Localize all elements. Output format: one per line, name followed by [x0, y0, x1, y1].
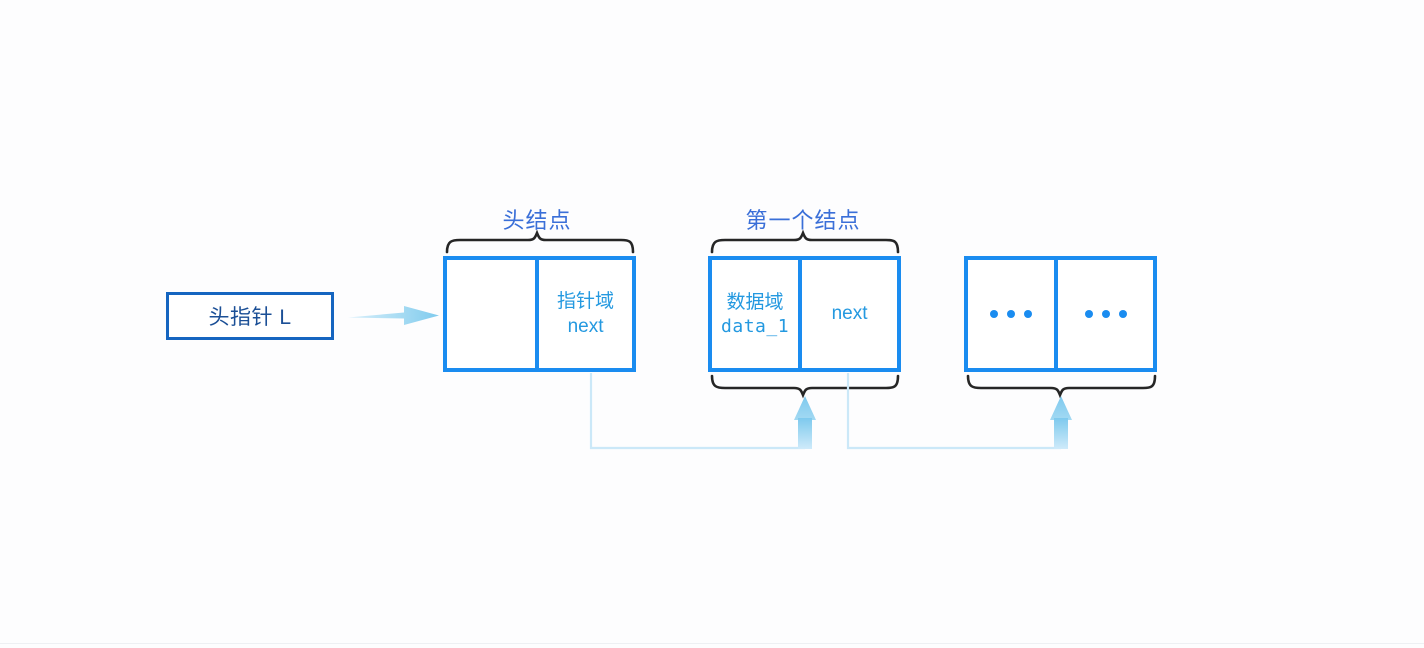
node-head: 指针域 next: [443, 256, 636, 372]
node-head-next-label-line1: 指针域: [557, 289, 614, 314]
head-pointer-box: 头指针 L: [166, 292, 334, 340]
ellipsis-icon-right: [1085, 310, 1127, 318]
ellipsis-icon-left: [990, 310, 1032, 318]
node-head-next-label-line2: next: [568, 314, 604, 339]
node-first-next-cell: next: [802, 260, 897, 368]
page-baseline-divider: [0, 643, 1424, 644]
caption-first-node: 第一个结点: [745, 203, 860, 235]
link-head-to-first: [591, 373, 816, 449]
node-head-data-cell: [447, 260, 539, 368]
brace-more-node-bottom: [968, 376, 1155, 395]
node-first-data-label-line1: 数据域: [727, 290, 784, 315]
link-first-to-more: [848, 373, 1072, 449]
node-first-next-label: next: [832, 301, 868, 326]
node-more-data-cell: [968, 260, 1058, 368]
node-first: 数据域 data_1 next: [708, 256, 901, 372]
brace-head-node: [447, 233, 633, 252]
node-more-next-cell: [1058, 260, 1153, 368]
brace-first-node: [712, 233, 898, 252]
brace-first-node-bottom: [712, 376, 898, 395]
caption-head-node: 头结点: [502, 203, 571, 235]
node-first-data-cell: 数据域 data_1: [712, 260, 802, 368]
node-first-data-value: data_1: [721, 315, 789, 339]
node-more: [964, 256, 1157, 372]
head-pointer-label: 头指针 L: [208, 301, 291, 331]
node-head-next-cell: 指针域 next: [539, 260, 632, 368]
linked-list-diagram: 头指针 L 头结点 第一个结点 指针域 next 数据域 data_1 next: [0, 0, 1424, 648]
head-pointer-arrow-icon: [348, 306, 439, 325]
